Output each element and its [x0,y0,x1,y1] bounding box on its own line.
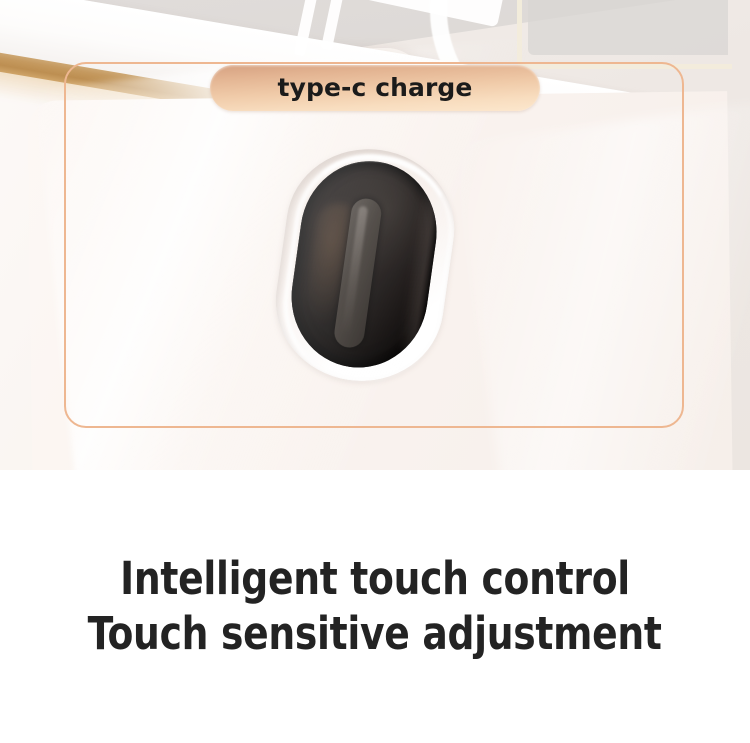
type-c-port [266,138,465,391]
feature-badge-label: type-c charge [278,75,473,101]
feature-badge: type-c charge [210,65,540,111]
product-feature-image: type-c charge Intelligent touch control … [0,0,750,743]
caption-section: Intelligent touch control Touch sensitiv… [0,470,750,743]
caption-line-2: Touch sensitive adjustment [88,607,662,662]
caption-line-1: Intelligent touch control [120,552,630,607]
product-photo: type-c charge [0,0,750,470]
